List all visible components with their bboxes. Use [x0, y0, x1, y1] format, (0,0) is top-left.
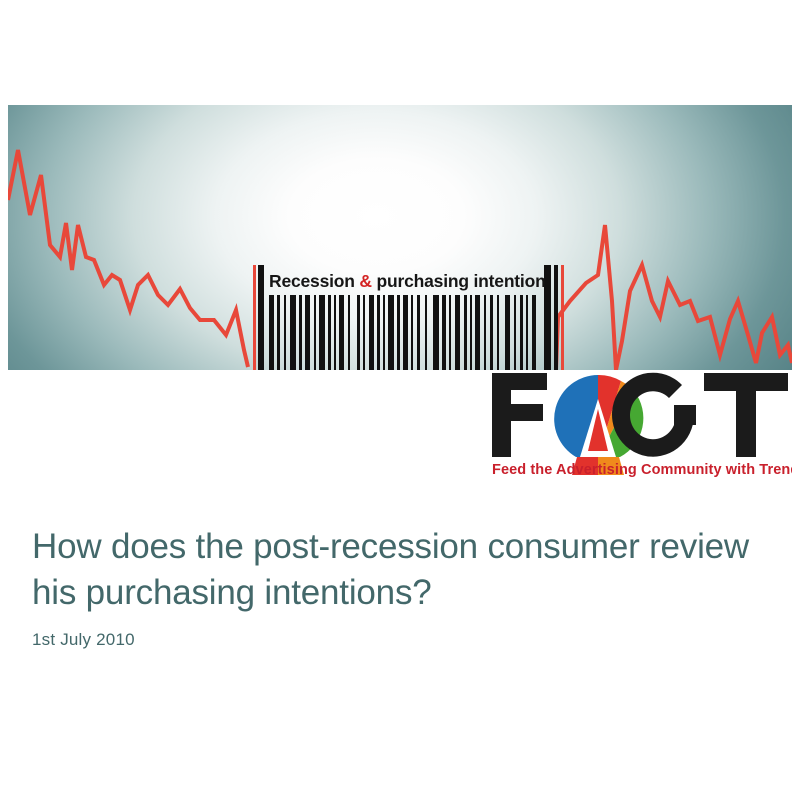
chart-series-right: [556, 225, 792, 370]
barcode-title-prefix: Recession: [269, 271, 359, 291]
barcode-guard-left: [253, 265, 256, 370]
logo-letter-c-icon: [612, 373, 696, 457]
barcode-title: Recession & purchasing intention: [269, 269, 555, 293]
page-date: 1st July 2010: [32, 630, 135, 650]
fact-logo: Feed the Advertising Community with Tren…: [488, 369, 792, 479]
barcode-title-ampersand: &: [359, 271, 371, 291]
logo-tagline: Feed the Advertising Community with Tren…: [492, 462, 792, 478]
page-title: How does the post-recession consumer rev…: [32, 524, 762, 616]
recession-banner: Recession & purchasing intention: [8, 105, 792, 370]
barcode-graphic: Recession & purchasing intention: [253, 265, 566, 370]
chart-series-left: [8, 150, 248, 367]
fact-logo-graphic: Feed the Advertising Community with Tren…: [488, 369, 792, 479]
logo-letter-f-icon: [492, 373, 547, 457]
logo-letter-t-icon: [704, 373, 788, 457]
barcode-guard-right: [561, 265, 564, 370]
barcode-title-suffix: purchasing intention: [372, 271, 546, 291]
